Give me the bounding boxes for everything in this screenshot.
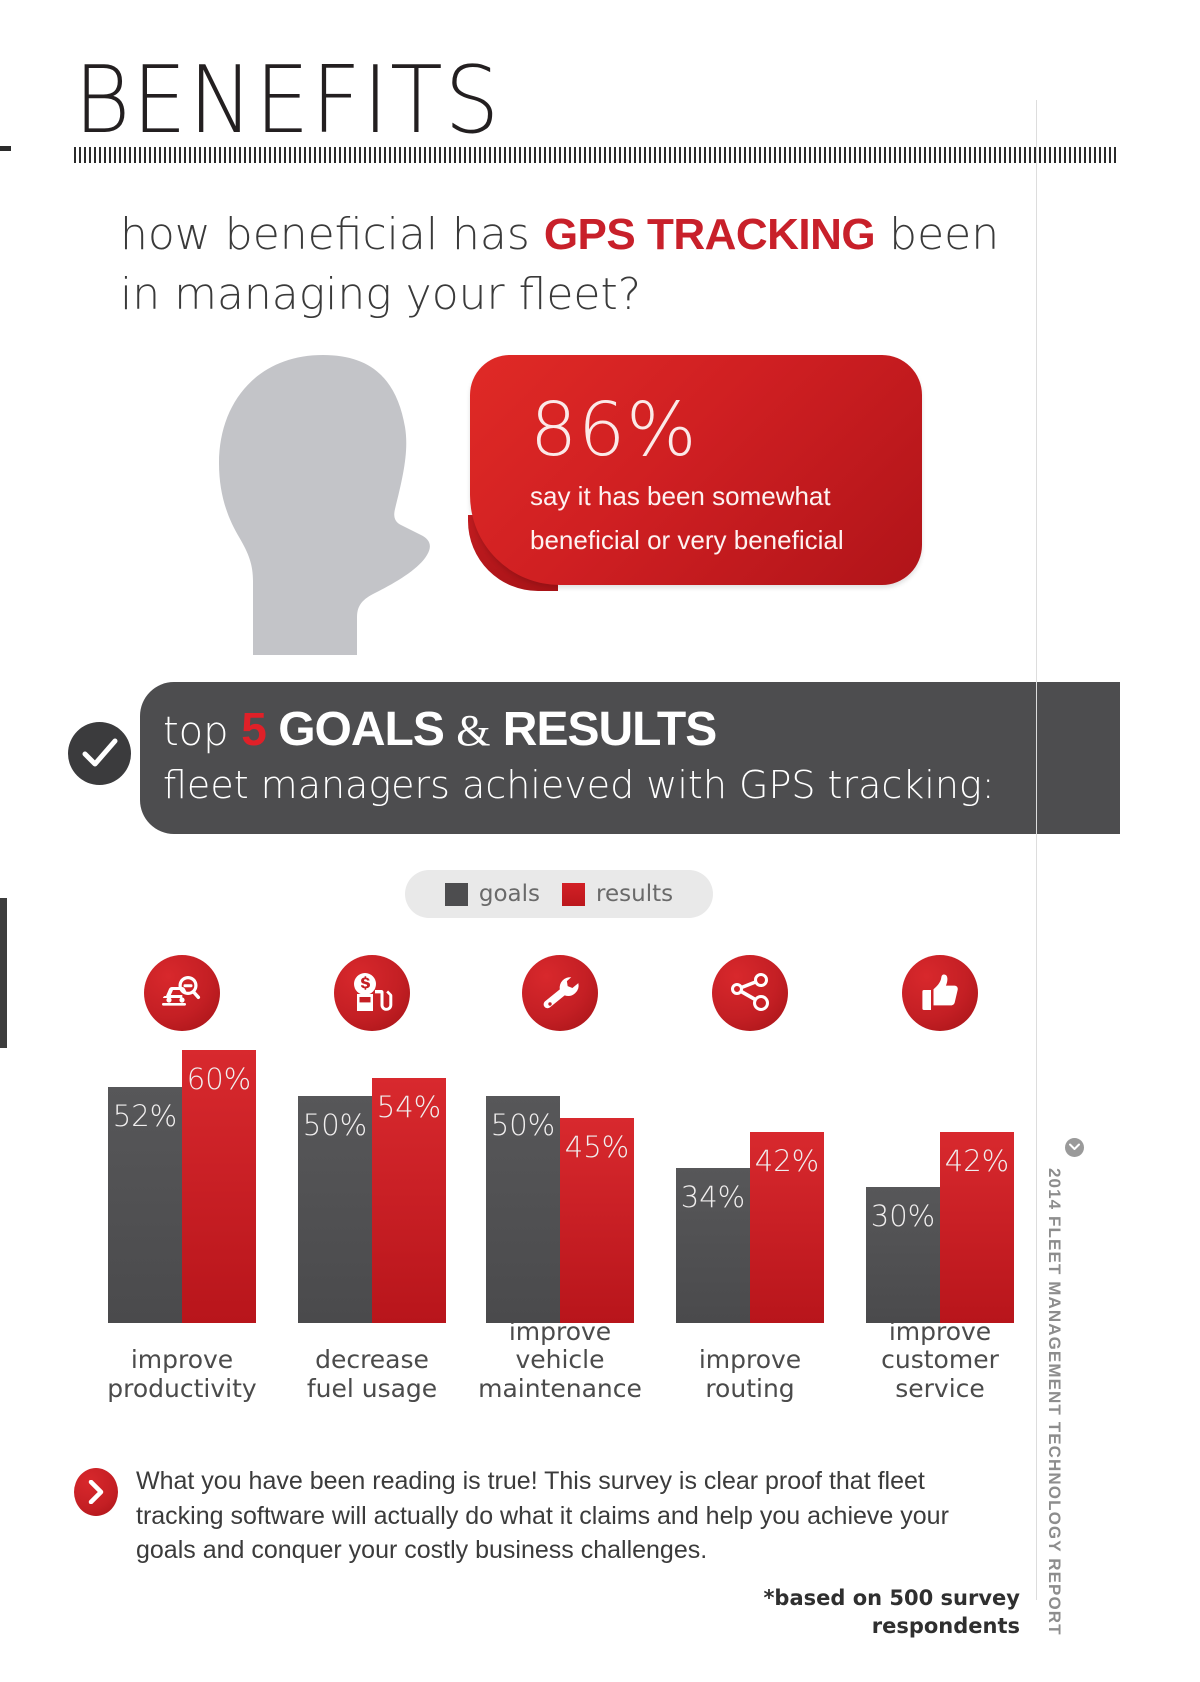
- category-label-line: routing: [658, 1375, 842, 1404]
- bar-value-label: 54%: [372, 1090, 446, 1124]
- bar-goal-4: 30%: [866, 1187, 940, 1323]
- head-silhouette-icon: [205, 355, 475, 655]
- category-label-line: improve: [468, 1318, 652, 1347]
- category-label-line: customer: [848, 1346, 1032, 1375]
- page-title: BENEFITS: [74, 54, 501, 147]
- legend-item-goals: goals: [445, 881, 540, 907]
- bar-value-label: 45%: [560, 1130, 634, 1164]
- bar-value-label: 42%: [750, 1144, 824, 1178]
- chart-group-4: 30%42%improvecustomerservice: [860, 955, 1020, 1375]
- category-label-line: maintenance: [468, 1375, 652, 1404]
- page-edge-mark-left: [0, 898, 7, 1048]
- category-label-line: service: [848, 1375, 1032, 1404]
- question-text: how beneficial has GPS TRACKING been in …: [120, 205, 1020, 325]
- category-label-line: productivity: [90, 1375, 274, 1404]
- category-label-line: decrease: [280, 1346, 464, 1375]
- car-search-icon: [144, 955, 220, 1031]
- dashed-rule-icon: [74, 147, 1119, 163]
- banner-subtitle: fleet managers achieved with GPS trackin…: [163, 763, 995, 807]
- stat-percent: 86%: [530, 393, 697, 467]
- banner-goals-word: GOALS: [266, 703, 456, 756]
- banner-results-word: RESULTS: [490, 703, 716, 756]
- question-highlight: GPS TRACKING: [544, 210, 875, 259]
- chart-category-label-2: improvevehiclemaintenance: [468, 1318, 652, 1404]
- chevron-down-icon: [1065, 1138, 1084, 1157]
- legend-item-results: results: [562, 881, 673, 907]
- bar-value-label: 34%: [676, 1180, 750, 1214]
- footnote-text: *based on 500 survey respondents: [742, 1584, 1020, 1641]
- banner-ampersand: &: [456, 706, 490, 755]
- category-label-line: improve: [848, 1318, 1032, 1347]
- bar-goal-2: 50%: [486, 1096, 560, 1323]
- bar-pair: 30%42%: [861, 1023, 1019, 1323]
- bar-goal-0: 52%: [108, 1087, 182, 1323]
- chart-group-2: 50%45%improvevehiclemaintenance: [480, 955, 640, 1375]
- fuel-dollar-icon: [334, 955, 410, 1031]
- bar-pair: 52%60%: [103, 1023, 261, 1323]
- bar-result-4: 42%: [940, 1132, 1014, 1323]
- bar-result-1: 54%: [372, 1078, 446, 1323]
- chart-group-0: 52%60%improveproductivity: [102, 955, 262, 1375]
- bar-value-label: 50%: [486, 1108, 560, 1142]
- goals-results-bar-chart: 52%60%improveproductivity 50%54%decrease…: [80, 955, 1040, 1375]
- legend-label-results: results: [596, 881, 673, 907]
- check-icon: [68, 722, 131, 785]
- category-label-line: improve: [90, 1346, 274, 1375]
- banner-number: 5: [241, 703, 266, 755]
- bar-goal-3: 34%: [676, 1168, 750, 1323]
- sidebar-report-label: 2014 FLEET MANAGEMENT TECHNOLOGY REPORT: [1044, 1168, 1064, 1588]
- wrench-icon: [522, 955, 598, 1031]
- conclusion-text: What you have been reading is true! This…: [136, 1464, 1012, 1568]
- category-label-line: vehicle: [468, 1346, 652, 1375]
- share-network-icon: [712, 955, 788, 1031]
- bar-value-label: 42%: [940, 1144, 1014, 1178]
- legend-swatch-goals-icon: [445, 883, 468, 906]
- bar-result-2: 45%: [560, 1118, 634, 1323]
- bar-result-3: 42%: [750, 1132, 824, 1323]
- bar-value-label: 52%: [108, 1099, 182, 1133]
- bar-value-label: 60%: [182, 1062, 256, 1096]
- thumbs-up-icon: [902, 955, 978, 1031]
- chart-category-label-1: decreasefuel usage: [280, 1346, 464, 1403]
- chart-category-label-0: improveproductivity: [90, 1346, 274, 1403]
- infographic-page: BENEFITS how beneficial has GPS TRACKING…: [0, 0, 1200, 1682]
- chart-group-1: 50%54%decreasefuel usage: [292, 955, 452, 1375]
- legend-label-goals: goals: [479, 881, 540, 907]
- chart-legend: goals results: [405, 870, 713, 918]
- bar-result-0: 60%: [182, 1050, 256, 1323]
- bar-pair: 50%54%: [293, 1023, 451, 1323]
- banner-headline: top 5 GOALS & RESULTS: [163, 702, 716, 757]
- page-edge-mark-top: [0, 146, 11, 151]
- stat-line-1: say it has been somewhat: [530, 481, 831, 512]
- stat-line-2: beneficial or very beneficial: [530, 525, 844, 556]
- chart-category-label-3: improverouting: [658, 1346, 842, 1403]
- question-part-before: how beneficial has: [120, 209, 544, 260]
- category-label-line: improve: [658, 1346, 842, 1375]
- chart-group-3: 34%42%improverouting: [670, 955, 830, 1375]
- bar-goal-1: 50%: [298, 1096, 372, 1323]
- bar-pair: 50%45%: [481, 1023, 639, 1323]
- chevron-right-icon: [74, 1468, 118, 1516]
- banner-word-top: top: [163, 709, 241, 755]
- bar-value-label: 30%: [866, 1199, 940, 1233]
- legend-swatch-results-icon: [562, 883, 585, 906]
- bar-pair: 34%42%: [671, 1023, 829, 1323]
- category-label-line: fuel usage: [280, 1375, 464, 1404]
- chart-category-label-4: improvecustomerservice: [848, 1318, 1032, 1404]
- bar-value-label: 50%: [298, 1108, 372, 1142]
- sidebar-divider: [1036, 100, 1037, 1600]
